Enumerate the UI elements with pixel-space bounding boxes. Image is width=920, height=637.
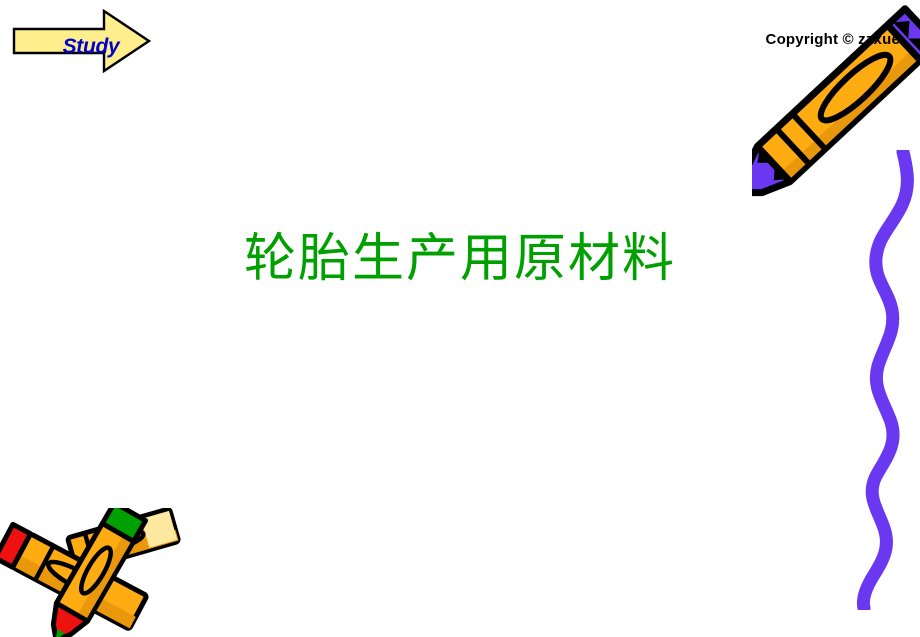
study-arrow-banner[interactable]: Study — [12, 8, 152, 74]
copyright-text: Copyright © zzxue — [766, 31, 900, 48]
slide-canvas: Study Copyright © zzxu — [0, 0, 920, 637]
crayons-bottom-left-decoration — [0, 508, 198, 637]
crossed-crayons-icon — [0, 508, 198, 637]
study-label: Study — [52, 35, 130, 59]
page-title: 轮胎生产用原材料 — [0, 228, 920, 290]
wavy-line-icon — [850, 150, 920, 610]
purple-squiggle-decoration — [850, 150, 920, 610]
